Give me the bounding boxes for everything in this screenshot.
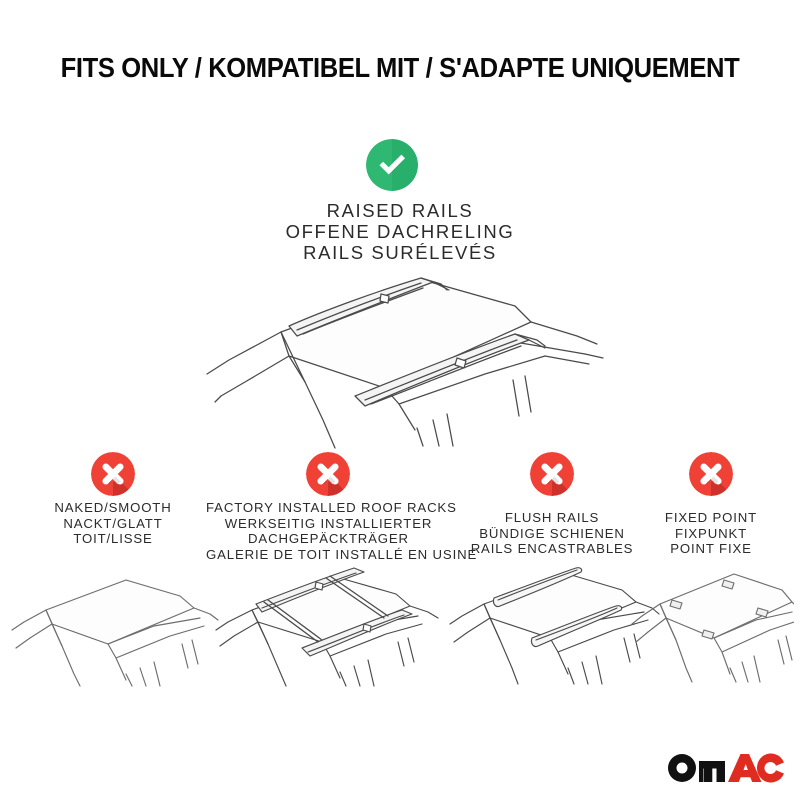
- option-label-fr: POINT FIXE: [628, 541, 794, 557]
- option-label-fr: TOIT/LISSE: [4, 531, 222, 547]
- car-roof-naked-smooth-illustration: [4, 562, 222, 687]
- option-label-en: FACTORY INSTALLED ROOF RACKS: [206, 500, 451, 516]
- car-roof-factory-roof-racks-illustration: [206, 562, 451, 687]
- check-circle-icon: [366, 139, 418, 191]
- page-title: FITS ONLY / KOMPATIBEL MIT / S'ADAPTE UN…: [28, 52, 772, 84]
- product-compatibility-infographic: FITS ONLY / KOMPATIBEL MIT / S'ADAPTE UN…: [0, 0, 800, 800]
- option-label-de-1: WERKSEITIG INSTALLIERTER: [206, 516, 451, 532]
- car-roof-fixed-point-illustration: [628, 558, 794, 683]
- omac-logo: [668, 752, 784, 784]
- approved-label-fr: RAILS SURÉLEVÉS: [200, 242, 600, 263]
- approved-label-de: OFFENE DACHRELING: [200, 221, 600, 242]
- option-label-fr: GALERIE DE TOIT INSTALLÉ EN USINE: [206, 547, 451, 563]
- option-label-en: NAKED/SMOOTH: [4, 500, 222, 516]
- x-circle-icon: [689, 452, 733, 496]
- option-labels: NAKED/SMOOTH NACKT/GLATT TOIT/LISSE: [4, 500, 222, 547]
- option-labels: FACTORY INSTALLED ROOF RACKS WERKSEITIG …: [206, 500, 451, 562]
- option-label-en: FIXED POINT: [628, 510, 794, 526]
- approved-label-en: RAISED RAILS: [200, 200, 600, 221]
- x-circle-icon: [306, 452, 350, 496]
- car-roof-raised-rails-illustration: [185, 270, 615, 450]
- option-labels: FIXED POINT FIXPUNKT POINT FIXE: [628, 510, 794, 557]
- option-label-de-2: DACHGEPÄCKTRÄGER: [206, 531, 451, 547]
- option-label-de: FIXPUNKT: [628, 526, 794, 542]
- option-label-de: NACKT/GLATT: [4, 516, 222, 532]
- x-circle-icon: [530, 452, 574, 496]
- approved-labels: RAISED RAILS OFFENE DACHRELING RAILS SUR…: [200, 200, 600, 263]
- x-circle-icon: [91, 452, 135, 496]
